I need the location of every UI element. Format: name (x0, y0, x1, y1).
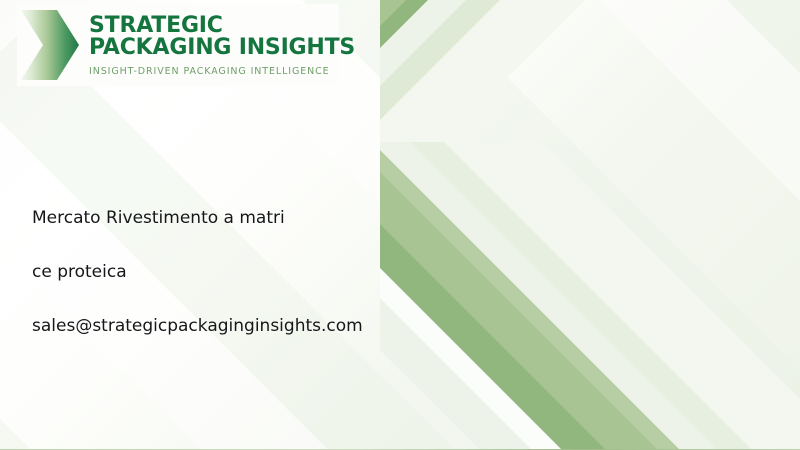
body-line-title-part-2: ce proteica (32, 262, 462, 282)
logo-title-line-2: PACKAGING INSIGHTS (89, 37, 355, 59)
contact-email[interactable]: sales@strategicpackaginginsights.com (32, 316, 462, 336)
logo-tagline: INSIGHT-DRIVEN PACKAGING INTELLIGENCE (89, 66, 355, 77)
chevron-arrow-icon (19, 8, 81, 82)
logo-wordmark: STRATEGIC PACKAGING INSIGHTS INSIGHT-DRI… (89, 13, 355, 77)
body-text-block: Mercato Rivestimento a matri ce proteica… (32, 208, 462, 336)
body-line-title-part-1: Mercato Rivestimento a matri (32, 208, 462, 228)
slide-canvas: STRATEGIC PACKAGING INSIGHTS INSIGHT-DRI… (0, 0, 800, 450)
logo: STRATEGIC PACKAGING INSIGHTS INSIGHT-DRI… (17, 4, 339, 86)
logo-title-line-1: STRATEGIC (89, 15, 355, 37)
